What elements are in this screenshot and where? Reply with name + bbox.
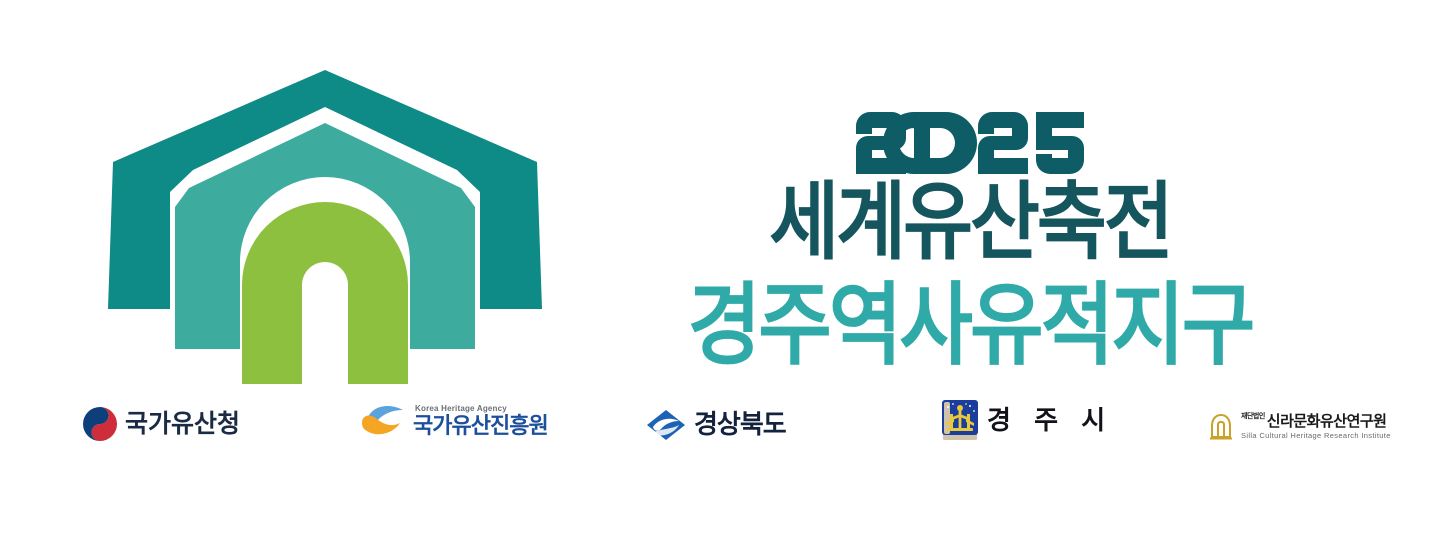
sponsor-logo-row: 국가유산청 Korea Heritage Agency 국가유산진흥원 xyxy=(0,396,1440,456)
sponsor-name-english: Silla Cultural Heritage Research Institu… xyxy=(1241,432,1391,440)
festival-title-block: 세계유산축전 경주역사유적지구 xyxy=(620,112,1320,380)
festival-year xyxy=(620,112,1320,174)
gyeongju-crown-emblem-icon xyxy=(940,399,980,443)
taegeuk-icon xyxy=(82,406,118,442)
poster-canvas: 세계유산축전 경주역사유적지구 국가유산청 xyxy=(0,0,1440,542)
sponsor-name-korean: 국가유산청 xyxy=(125,411,240,437)
sponsor-name-korean: 국가유산진흥원 xyxy=(413,414,548,437)
sponsor-silla-cultural-heritage-research-institute[interactable]: 재단법인신라문화유산연구원 Silla Cultural Heritage Re… xyxy=(1208,404,1391,450)
emblem-outer-roof-shape xyxy=(108,70,542,309)
sponsor-korea-heritage-agency[interactable]: Korea Heritage Agency 국가유산진흥원 xyxy=(358,398,548,444)
sponsor-wordmark: 경 주 시 xyxy=(987,407,1113,434)
swoosh-icon xyxy=(358,401,406,441)
blue-diamond-wave-icon xyxy=(645,408,687,442)
sponsor-wordmark: Korea Heritage Agency 국가유산진흥원 xyxy=(413,405,548,436)
emblem-inner-arch-shape xyxy=(242,202,408,384)
silla-bell-icon xyxy=(1208,412,1234,442)
festival-name-korean: 세계유산축전 xyxy=(620,180,1320,267)
sponsor-name-korean: 신라문화유산연구원 xyxy=(1267,413,1387,430)
world-heritage-festival-arch-emblem xyxy=(105,62,545,387)
sponsor-gyeongsangbuk-do[interactable]: 경상북도 xyxy=(645,402,786,448)
sponsor-name-prefix: 재단법인 xyxy=(1241,414,1265,421)
sponsor-wordmark: 경상북도 xyxy=(694,411,786,438)
sponsor-korea-heritage-service[interactable]: 국가유산청 xyxy=(82,401,240,447)
sponsor-name-korean-line: 재단법인신라문화유산연구원 xyxy=(1241,414,1391,430)
sponsor-name-korean: 경상북도 xyxy=(694,411,786,438)
sponsor-wordmark: 재단법인신라문화유산연구원 Silla Cultural Heritage Re… xyxy=(1241,414,1391,440)
sponsor-wordmark: 국가유산청 xyxy=(125,411,240,437)
sponsor-name-korean: 경 주 시 xyxy=(987,407,1113,434)
sponsor-gyeongju-city[interactable]: 경 주 시 xyxy=(940,398,1113,444)
festival-district-korean: 경주역사유적지구 xyxy=(620,280,1320,372)
